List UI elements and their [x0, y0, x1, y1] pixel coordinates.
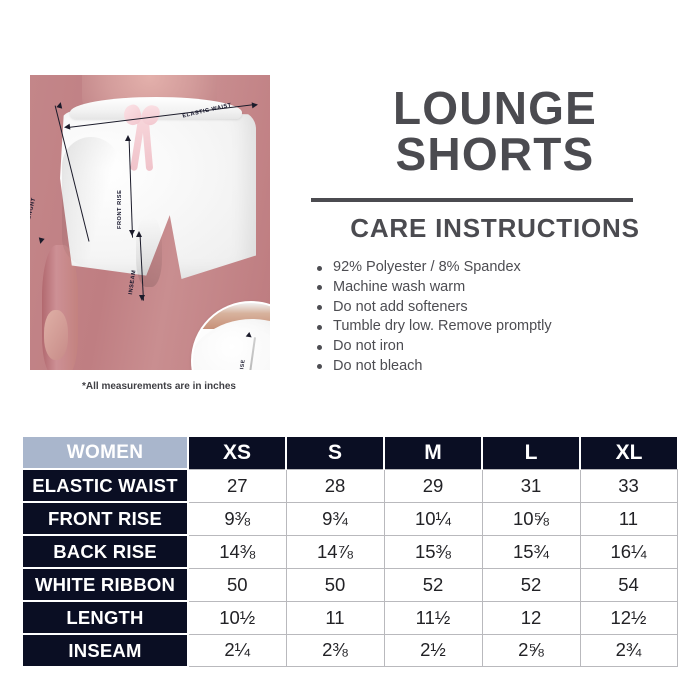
table-row: LENGTH 10½ 11 11½ 12 12½ [23, 601, 677, 634]
table-row: ELASTIC WAIST 27 28 29 31 33 [23, 469, 677, 502]
back-rise-arrow-top [246, 332, 253, 338]
cell-white-ribbon-m: 52 [384, 568, 482, 601]
product-photo: ELASTIC WAIST LENGHT FRONT RISE INSEAM B… [30, 75, 270, 370]
title-divider [311, 198, 633, 202]
column-header-xl: XL [580, 437, 677, 469]
column-header-m: M [384, 437, 482, 469]
cell-length-l: 12 [482, 601, 580, 634]
cell-length-m: 11½ [384, 601, 482, 634]
cell-elastic-waist-s: 28 [286, 469, 384, 502]
cell-inseam-l: 2⅝ [482, 634, 580, 666]
column-header-xs: XS [188, 437, 286, 469]
cell-inseam-s: 2⅜ [286, 634, 384, 666]
list-item: Tumble dry low. Remove promptly [316, 317, 552, 337]
list-item: Do not bleach [316, 357, 552, 377]
cell-front-rise-xs: 9⅜ [188, 502, 286, 535]
size-chart-table: WOMEN XS S M L XL ELASTIC WAIST 27 28 29… [23, 437, 678, 667]
cell-elastic-waist-xs: 27 [188, 469, 286, 502]
list-item: Machine wash warm [316, 278, 552, 298]
cell-white-ribbon-l: 52 [482, 568, 580, 601]
elastic-waist-arrow-left [64, 124, 71, 131]
cell-back-rise-xl: 16¼ [580, 535, 677, 568]
table-row: FRONT RISE 9⅜ 9¾ 10¼ 10⅝ 11 [23, 502, 677, 535]
cell-white-ribbon-s: 50 [286, 568, 384, 601]
inseam-arrow-top [136, 231, 142, 237]
cell-white-ribbon-xs: 50 [188, 568, 286, 601]
table-corner-women: WOMEN [23, 437, 188, 469]
row-header-length: LENGTH [23, 601, 188, 634]
cell-length-xs: 10½ [188, 601, 286, 634]
front-rise-arrow-top [125, 135, 131, 141]
cell-inseam-xl: 2¾ [580, 634, 677, 666]
inseam-arrow-bottom [139, 295, 145, 301]
cell-front-rise-xl: 11 [580, 502, 677, 535]
table-header-row: WOMEN XS S M L XL [23, 437, 677, 469]
cell-back-rise-m: 15⅜ [384, 535, 482, 568]
page-title: LOUNGE SHORTS [300, 86, 690, 177]
model-hand [44, 310, 68, 360]
measurements-footnote: *All measurements are in inches [82, 381, 236, 392]
row-header-inseam: INSEAM [23, 634, 188, 666]
shorts-shading [62, 137, 120, 267]
row-header-back-rise: BACK RISE [23, 535, 188, 568]
cell-white-ribbon-xl: 54 [580, 568, 677, 601]
cell-front-rise-m: 10¼ [384, 502, 482, 535]
cell-length-xl: 12½ [580, 601, 677, 634]
table-row: INSEAM 2¼ 2⅜ 2½ 2⅝ 2¾ [23, 634, 677, 666]
cell-elastic-waist-m: 29 [384, 469, 482, 502]
bow-tail [142, 119, 154, 171]
row-header-front-rise: FRONT RISE [23, 502, 188, 535]
elastic-waist-arrow-right [252, 102, 259, 109]
cell-front-rise-s: 9¾ [286, 502, 384, 535]
cell-elastic-waist-l: 31 [482, 469, 580, 502]
cell-back-rise-xs: 14⅜ [188, 535, 286, 568]
cell-front-rise-l: 10⅝ [482, 502, 580, 535]
cell-inseam-m: 2½ [384, 634, 482, 666]
cell-inseam-xs: 2¼ [188, 634, 286, 666]
list-item: Do not iron [316, 337, 552, 357]
care-instructions-heading: CARE INSTRUCTIONS [300, 213, 690, 244]
list-item: 92% Polyester / 8% Spandex [316, 258, 552, 278]
cell-back-rise-s: 14⅞ [286, 535, 384, 568]
table-row: WHITE RIBBON 50 50 52 52 54 [23, 568, 677, 601]
front-rise-label: FRONT RISE [117, 190, 123, 229]
column-header-s: S [286, 437, 384, 469]
cell-elastic-waist-xl: 33 [580, 469, 677, 502]
row-header-elastic-waist: ELASTIC WAIST [23, 469, 188, 502]
title-line-1: LOUNGE [300, 86, 690, 132]
cell-back-rise-l: 15¾ [482, 535, 580, 568]
title-line-2: SHORTS [300, 132, 690, 178]
cell-length-s: 11 [286, 601, 384, 634]
list-item: Do not add softeners [316, 298, 552, 318]
table-row: BACK RISE 14⅜ 14⅞ 15⅜ 15¾ 16¼ [23, 535, 677, 568]
row-header-white-ribbon: WHITE RIBBON [23, 568, 188, 601]
front-rise-arrow-bottom [129, 230, 135, 236]
column-header-l: L [482, 437, 580, 469]
back-rise-inset: BACK RISE [193, 303, 270, 370]
care-instructions-list: 92% Polyester / 8% Spandex Machine wash … [316, 258, 552, 377]
